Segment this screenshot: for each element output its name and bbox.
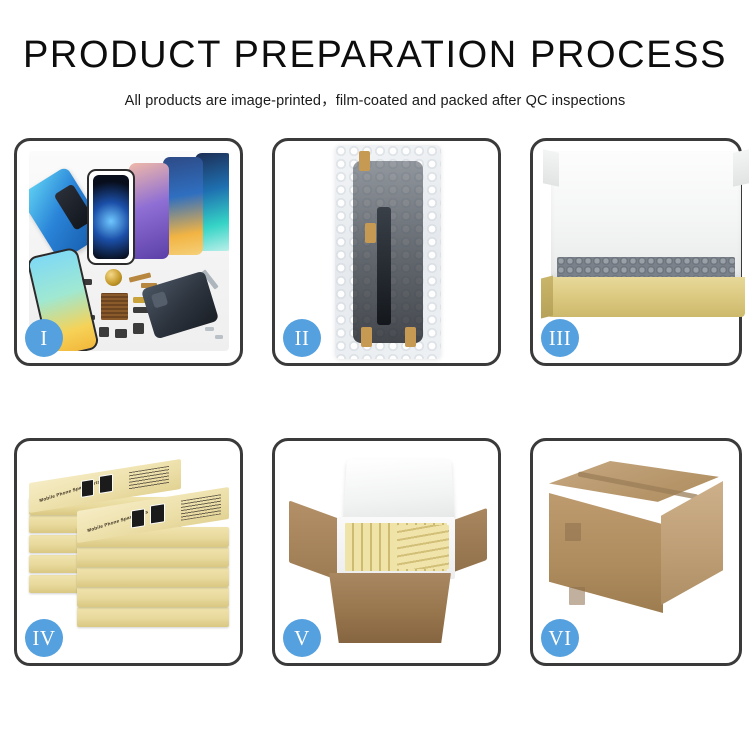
tape-tab-bottom-right: [405, 327, 416, 347]
box-art-screen-1b: [99, 474, 113, 494]
vibrator-module: [115, 329, 127, 338]
carton-side-face: [661, 481, 723, 605]
step-3-illustration: III: [531, 139, 741, 365]
kraft-boxes-inside-right: [397, 525, 449, 569]
step-badge-5: V: [283, 619, 321, 657]
process-step-panel-3: III: [530, 138, 742, 366]
screw-1: [205, 327, 214, 331]
tape-tab-bottom-left: [361, 327, 372, 347]
step-4-illustration: Mobile Phone Spare Parts Mobile Phone Sp…: [15, 439, 242, 665]
tape-tab-mid: [365, 223, 376, 243]
process-step-grid: I II III: [14, 138, 742, 666]
carton-front-face: [549, 493, 663, 613]
foam-lid-open: [343, 459, 455, 523]
camera-module: [99, 327, 109, 337]
box-art-screen-2a: [131, 508, 145, 528]
process-step-panel-4: Mobile Phone Spare Parts Mobile Phone Sp…: [14, 438, 243, 666]
tape-tab-top: [359, 151, 370, 171]
carton-tab-upper: [565, 523, 581, 541]
parts-layout-scene: [29, 151, 229, 351]
step-5-illustration: V: [273, 439, 500, 665]
ic-chip: [133, 323, 144, 334]
speaker-part: [105, 269, 122, 286]
box-art-screen-2b: [150, 503, 165, 524]
open-carton-scene: [287, 455, 487, 655]
page-title: PRODUCT PREPARATION PROCESS: [0, 36, 750, 76]
step-badge-3: III: [541, 319, 579, 357]
step-badge-4: IV: [25, 619, 63, 657]
step-badge-6: VI: [541, 619, 579, 657]
stack-box-11: [77, 587, 229, 607]
product-preparation-page: PRODUCT PREPARATION PROCESS All products…: [0, 0, 750, 750]
process-step-panel-6: VI: [530, 438, 742, 666]
box-art-screen-1a: [81, 479, 94, 498]
stack-box-10: [77, 567, 229, 587]
step-6-illustration: VI: [531, 439, 741, 665]
sealed-carton: [543, 461, 735, 641]
flex-cable-strip: [377, 207, 391, 325]
process-step-panel-1: I: [14, 138, 243, 366]
screw-2: [215, 335, 223, 339]
bubble-wrapped-contents: [557, 257, 735, 279]
flex-ribbon-1: [129, 272, 152, 282]
stack-box-12: [77, 607, 229, 627]
connector-grid: [101, 293, 128, 320]
phone-purple: [129, 163, 169, 259]
bubble-wrap-sleeve: [335, 145, 441, 359]
page-header: PRODUCT PREPARATION PROCESS All products…: [0, 0, 750, 110]
kraft-box-tray: [547, 277, 745, 317]
step-badge-1: I: [25, 319, 63, 357]
carton-body: [329, 573, 451, 643]
stack-box-9: [77, 547, 229, 567]
phone-orange: [163, 157, 203, 255]
screen-protector-glass: [87, 169, 135, 265]
carton-tab-lower: [569, 587, 585, 605]
box-spec-lines-1: [129, 466, 169, 491]
page-subtitle: All products are image-printed，film-coat…: [0, 89, 750, 110]
step-badge-2: II: [283, 319, 321, 357]
box-spec-lines-2: [181, 494, 221, 520]
process-step-panel-2: II: [272, 138, 501, 366]
step-1-illustration: I: [15, 139, 242, 365]
process-step-panel-5: V: [272, 438, 501, 666]
step-2-illustration: II: [273, 139, 500, 365]
